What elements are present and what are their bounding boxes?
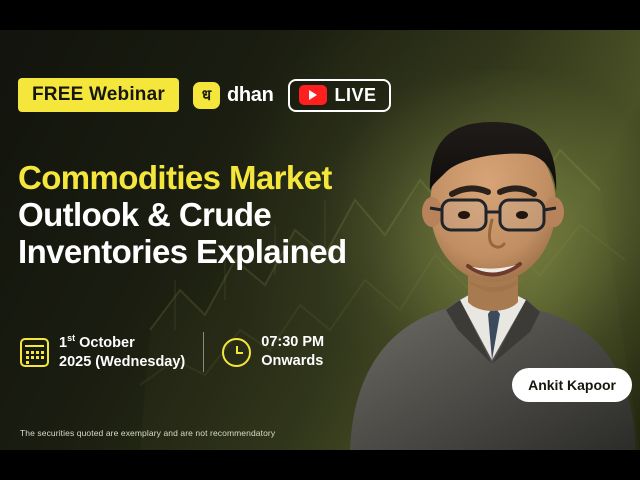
headline: Commodities Market Outlook & Crude Inven…	[18, 160, 347, 271]
youtube-play-icon	[299, 85, 327, 105]
meta-divider	[203, 332, 204, 372]
event-date-text: 1st October 2025 (Wednesday)	[59, 332, 185, 373]
letterbox-top	[0, 0, 640, 30]
event-time-suffix: Onwards	[261, 353, 323, 369]
dhan-brand-name: dhan	[227, 84, 274, 107]
headline-line-2: Outlook & Crude	[18, 197, 347, 234]
calendar-icon	[20, 338, 49, 367]
live-label: LIVE	[335, 85, 377, 106]
disclaimer-text: The securities quoted are exemplary and …	[20, 428, 275, 438]
letterbox-bottom	[0, 450, 640, 480]
banner-background: Ankit Kapoor FREE Webinar ध dhan LIVE Co…	[0, 30, 640, 450]
event-meta-row: 1st October 2025 (Wednesday) 07:30 PM On…	[20, 332, 324, 373]
event-time-value: 07:30 PM	[261, 334, 324, 350]
event-date-month: October	[75, 335, 135, 351]
headline-line-1: Commodities Market	[18, 160, 347, 197]
dhan-logo-icon: ध	[193, 82, 220, 109]
event-date-block: 1st October 2025 (Wednesday)	[20, 332, 185, 373]
speaker-name-chip: Ankit Kapoor	[512, 368, 632, 402]
webinar-banner-image: Ankit Kapoor FREE Webinar ध dhan LIVE Co…	[0, 0, 640, 480]
event-time-block: 07:30 PM Onwards	[222, 333, 324, 372]
clock-icon	[222, 338, 251, 367]
event-date-ordinal: st	[67, 333, 75, 343]
free-webinar-badge: FREE Webinar	[18, 78, 179, 112]
banner-top-row: FREE Webinar ध dhan LIVE	[18, 78, 391, 112]
live-badge: LIVE	[288, 79, 391, 112]
event-date-year: 2025 (Wednesday)	[59, 354, 185, 370]
event-time-text: 07:30 PM Onwards	[261, 333, 324, 372]
dhan-brand-logo: ध dhan	[193, 82, 274, 109]
event-date-day: 1	[59, 335, 67, 351]
headline-line-3: Inventories Explained	[18, 234, 347, 271]
